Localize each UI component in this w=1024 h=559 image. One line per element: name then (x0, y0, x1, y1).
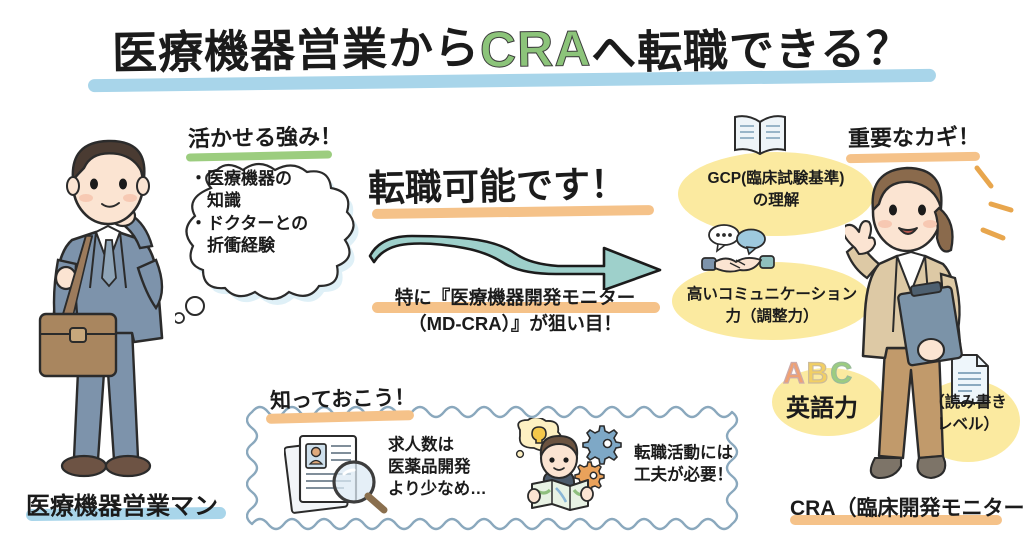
notice-item-1-text: 求人数は 医薬品開発 より少なめ… (388, 434, 528, 500)
center-subtext: 特に『医療機器開発モニター （MD-CRA）』が狙い目！ (360, 285, 670, 338)
abc-letter-c: C (830, 357, 854, 390)
female-cra-presenting-icon (845, 160, 1020, 505)
center-subtext-line1: 特に『医療機器開発モニター (360, 285, 670, 311)
notice-item-2-text: 転職活動には 工夫が必要！ (634, 442, 774, 486)
title-part-1: 医療機器営業から (111, 11, 480, 82)
communication-bubble-text: 高いコミュニケーション 力（調整力） (668, 284, 876, 327)
title-highlight-cra: CRA (479, 19, 591, 79)
gcp-bubble-text: GCP(臨床試験基準) の理解 (680, 168, 872, 211)
notice-1-line2: 医薬品開発 (388, 456, 528, 478)
reading-bubble-text: （読み書き レベル） (912, 392, 1024, 435)
left-person-caption: 医療機器営業マン (26, 486, 218, 521)
abc-letter-a: A (783, 357, 807, 390)
list-item: ・ドクターとの (190, 213, 350, 235)
gcp-line2: の理解 (680, 190, 872, 212)
handshake-speech-icon (700, 222, 776, 281)
abc-letter-b: B (807, 357, 831, 390)
notice-badge: 知っておこう！ (270, 381, 416, 415)
list-item: 折衝経験 (190, 235, 350, 257)
comm-line1: 高いコミュニケーション (668, 284, 876, 306)
abc-letters: ABC (783, 357, 854, 391)
curved-right-arrow-icon (368, 218, 668, 295)
comm-line2: 力（調整力） (668, 306, 876, 328)
resume-magnifier-icon (284, 428, 392, 519)
title-part-2: へ転職できる？ (591, 11, 913, 81)
reading-line1: （読み書き (912, 392, 1024, 414)
english-skill-label: 英語力 (786, 388, 858, 423)
reading-line2: レベル） (912, 414, 1024, 436)
gcp-line1: GCP(臨床試験基準) (680, 168, 872, 190)
notice-1-line3: より少なめ… (388, 478, 528, 500)
notice-2-line1: 転職活動には (634, 442, 774, 464)
center-subtext-line2: （MD-CRA）』が狙い目！ (360, 311, 670, 337)
businessman-thinking-icon (22, 128, 197, 488)
list-item: ・医療機器の (190, 168, 350, 190)
list-item: 知識 (190, 190, 350, 212)
strengths-badge: 活かせる強み！ (188, 119, 343, 154)
key-badge: 重要なカギ！ (848, 119, 981, 153)
notice-1-line1: 求人数は (388, 434, 528, 456)
open-book-icon (732, 112, 788, 161)
page-title: 医療機器営業からCRAへ転職できる？ (0, 14, 1024, 79)
strengths-list: ・医療機器の 知識 ・ドクターとの 折衝経験 (190, 168, 350, 258)
notice-2-line2: 工夫が必要！ (634, 464, 774, 486)
infographic-canvas: 医療機器営業からCRAへ転職できる？ (0, 0, 1024, 559)
center-headline: 転職可能です！ (368, 154, 628, 213)
right-person-caption: CRA（臨床開発モニター） (790, 492, 1024, 522)
